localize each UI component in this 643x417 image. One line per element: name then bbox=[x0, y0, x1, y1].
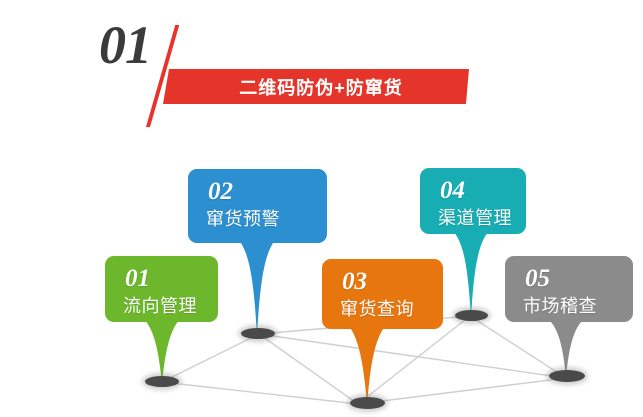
pin-02-base-shadow bbox=[241, 328, 275, 339]
pin-03[interactable]: 03 窜货查询 bbox=[322, 259, 462, 414]
pin-01-base-shadow bbox=[145, 376, 179, 387]
pin-02[interactable]: 02 窜货预警 bbox=[188, 169, 333, 349]
pin-03-body[interactable]: 03 窜货查询 bbox=[322, 259, 443, 329]
pin-03-number: 03 bbox=[342, 269, 443, 294]
pin-05-base-shadow bbox=[549, 370, 585, 382]
pin-03-base-shadow bbox=[350, 397, 385, 409]
pin-02-label: 窜货预警 bbox=[206, 209, 327, 230]
pin-04-number: 04 bbox=[440, 178, 526, 203]
pin-04-body[interactable]: 04 渠道管理 bbox=[420, 168, 526, 234]
pin-04-label: 渠道管理 bbox=[438, 208, 526, 229]
pin-02-body[interactable]: 02 窜货预警 bbox=[188, 169, 327, 243]
pin-03-label: 窜货查询 bbox=[340, 299, 443, 320]
pin-02-number: 02 bbox=[208, 179, 327, 204]
pin-05-number: 05 bbox=[525, 266, 633, 291]
slide-canvas: 01 二维码防伪+防窜货 05 市场稽查 bbox=[0, 0, 643, 417]
